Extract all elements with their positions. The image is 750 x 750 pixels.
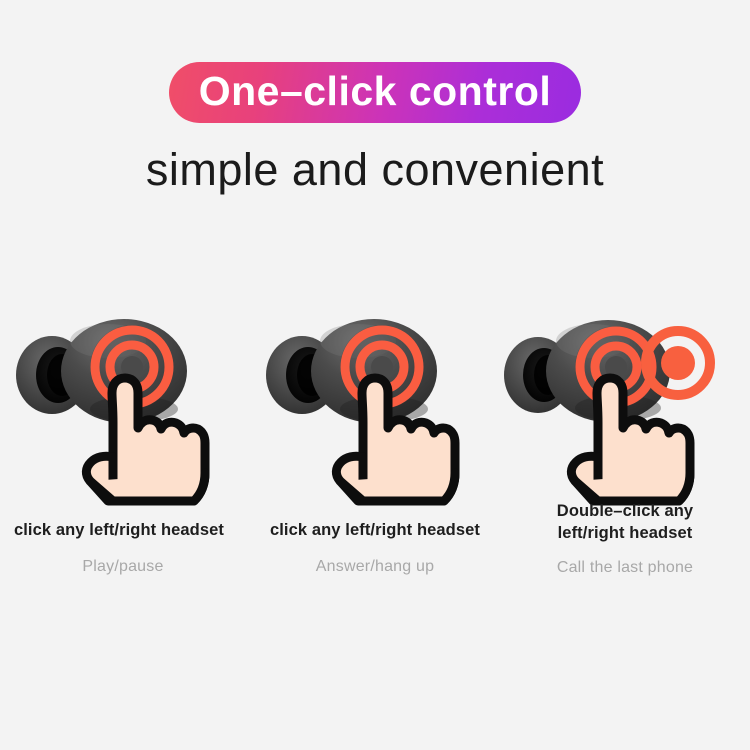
caption-sub-text: Call the last phone	[500, 559, 750, 577]
caption-main-text: click any left/right headset	[0, 520, 248, 542]
caption-main-line-2: left/right headset	[500, 523, 750, 545]
header: One–click control simple and convenient	[0, 0, 750, 195]
page-subtitle: simple and convenient	[0, 145, 750, 195]
feature-panel-call-last-phone: Double–click any left/right headset Call…	[500, 305, 750, 520]
panel-caption: click any left/right headset Answer/hang…	[250, 520, 500, 576]
earbud-single-tap-icon	[0, 305, 250, 520]
earbud-double-tap-icon	[500, 305, 750, 520]
caption-main-line-1: Double–click any	[500, 501, 750, 523]
caption-sub-text: Answer/hang up	[250, 558, 500, 576]
panel-caption: click any left/right headset Play/pause	[0, 520, 248, 576]
panel-caption: Double–click any left/right headset Call…	[500, 501, 750, 577]
caption-main-text: Double–click any left/right headset	[500, 501, 750, 545]
caption-main-text: click any left/right headset	[250, 520, 500, 542]
feature-panel-answer-hang-up: click any left/right headset Answer/hang…	[250, 305, 500, 520]
earbud-single-tap-icon	[250, 305, 500, 520]
feature-panels: click any left/right headset Play/pause	[0, 305, 750, 520]
caption-sub-text: Play/pause	[0, 558, 248, 576]
feature-panel-play-pause: click any left/right headset Play/pause	[0, 305, 250, 520]
page-title-badge: One–click control	[169, 62, 582, 123]
